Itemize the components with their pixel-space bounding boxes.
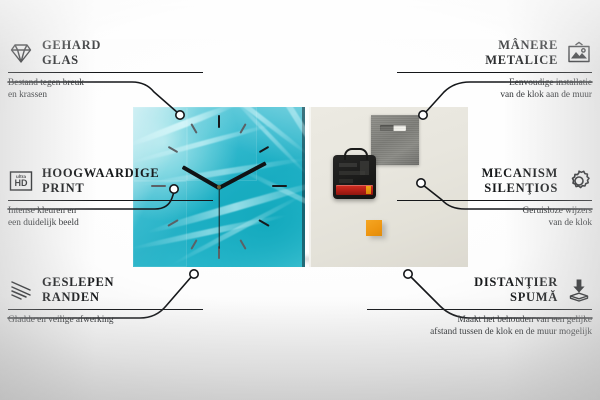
callout-header: ultra HD HOOGWAARDIGE PRINT (8, 166, 218, 196)
callout-desc-line2: en krassen (8, 89, 208, 101)
callout-rule (397, 200, 592, 201)
hanger-hook (344, 148, 368, 160)
callout-header: MÂNERE METALICE (392, 38, 592, 68)
callout-header: GEHARD GLAS (8, 38, 208, 68)
callout-manere-metalice[interactable]: MÂNERE METALICE Eenvoudige installatie v… (392, 38, 592, 101)
callout-distantier-spuma[interactable]: DISTANŢIER SPUMĂ Maakt het behouden van … (362, 275, 592, 338)
ultra-hd-icon: ultra HD (8, 168, 34, 194)
callout-rule (397, 72, 592, 73)
callout-rule (8, 309, 203, 310)
callout-desc-line1: Intense kleuren en (8, 205, 218, 217)
quartz-mechanism (333, 155, 376, 199)
callout-hoogwaardige-print[interactable]: ultra HD HOOGWAARDIGE PRINT Intense kleu… (8, 166, 218, 229)
clock-tick (218, 115, 220, 128)
callout-rule (8, 72, 203, 73)
callout-desc-line1: Bestand tegen breuk (8, 77, 208, 89)
callout-gehard-glas[interactable]: GEHARD GLAS Bestand tegen breuk en krass… (8, 38, 208, 101)
hd-label: HD (15, 179, 28, 188)
battery (336, 185, 373, 195)
callout-header: GESLEPEN RANDEN (8, 275, 208, 305)
callout-header: MECANISM SILENŢIOS (392, 166, 592, 196)
gear-icon (566, 168, 592, 194)
diamond-icon (8, 40, 34, 66)
callout-desc-line2: van de klok (392, 217, 592, 229)
callout-geslepen-randen[interactable]: GESLEPEN RANDEN Gladde en veilige afwerk… (8, 275, 208, 326)
foam-spacer-arrow-icon (566, 277, 592, 303)
callout-title: MECANISM SILENŢIOS (482, 166, 558, 196)
callout-title: DISTANŢIER SPUMĂ (474, 275, 558, 305)
callout-desc-line1: Gladde en veilige afwerking (8, 314, 208, 326)
second-hand (218, 188, 219, 249)
callout-desc-line2: een duidelijk beeld (8, 217, 218, 229)
callout-mecanism-silentios[interactable]: MECANISM SILENŢIOS Geruisloze wijzers va… (392, 166, 592, 229)
callout-desc-line1: Eenvoudige installatie (392, 77, 592, 89)
callout-header: DISTANŢIER SPUMĂ (362, 275, 592, 305)
callout-title: GESLEPEN RANDEN (42, 275, 114, 305)
callout-rule (8, 200, 213, 201)
infographic-canvas: GEHARD GLAS Bestand tegen breuk en krass… (0, 0, 600, 400)
framed-picture-hanger-icon (566, 40, 592, 66)
callout-title: MÂNERE METALICE (485, 38, 558, 68)
callout-desc-line2: van de klok aan de muur (392, 89, 592, 101)
callout-desc-line1: Geruisloze wijzers (392, 205, 592, 217)
callout-desc-line1: Maakt het behouden van een gelijke (362, 314, 592, 326)
callout-title: HOOGWAARDIGE PRINT (42, 166, 159, 196)
callout-title: GEHARD GLAS (42, 38, 101, 68)
foam-spacer (366, 220, 382, 236)
ground-edges-icon (8, 277, 34, 303)
callout-desc-line2: afstand tussen de klok en de muur mogeli… (362, 326, 592, 338)
callout-rule (367, 309, 592, 310)
clock-tick (272, 185, 287, 187)
metal-hanger-plate (371, 115, 419, 165)
